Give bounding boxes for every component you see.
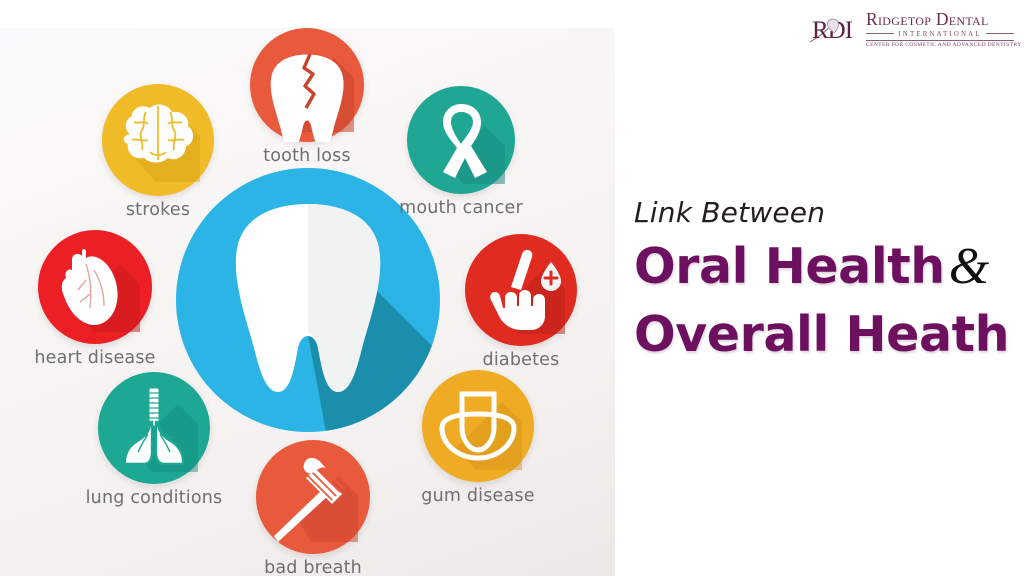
logo-international-row: INTERNATIONAL [866, 30, 1014, 38]
bad-breath-circle [256, 440, 370, 554]
tooth-loss-label: tooth loss [263, 146, 351, 166]
title-ampersand: & [945, 238, 989, 295]
awareness-ribbon-icon [407, 86, 515, 194]
title-block: Link Between Oral Health& Overall Heath [634, 196, 1024, 366]
finger-prick-icon [465, 234, 577, 346]
mouth-cancer-label: mouth cancer [399, 198, 523, 218]
logo-tagline: CENTER FOR COSMETIC AND ADVANCED DENTIST… [866, 42, 1014, 48]
heart-disease-label: heart disease [34, 348, 155, 368]
toothbrush-icon [256, 440, 370, 554]
brain-icon [102, 84, 214, 196]
heart-disease-circle [38, 230, 152, 344]
diabetes-label: diabetes [483, 350, 560, 370]
title-line-1-text: Oral Health [634, 238, 945, 295]
heart-organ-icon [38, 230, 152, 344]
logo-rule-right [986, 33, 1014, 34]
mouth-cancer-circle [407, 86, 515, 194]
oral-health-infographic: tooth loss mouth cancer [0, 28, 615, 576]
logo-international-text: INTERNATIONAL [898, 30, 981, 38]
cracked-tooth-icon [250, 28, 364, 142]
tooth-icon [228, 200, 388, 396]
diabetes-circle [465, 234, 577, 346]
lungs-icon [98, 372, 210, 484]
lung-conditions-label: lung conditions [86, 488, 223, 508]
brand-logo[interactable]: RDI Ridgetop Dental INTERNATIONAL CENTER… [806, 6, 1014, 52]
slide-root: RDI Ridgetop Dental INTERNATIONAL CENTER… [0, 0, 1024, 576]
lung-conditions-circle [98, 372, 210, 484]
strokes-circle [102, 84, 214, 196]
title-line-1: Oral Health& [634, 236, 1024, 298]
title-line-2: Overall Heath [634, 304, 1024, 366]
logo-rule-left [866, 33, 894, 34]
logo-company-name: Ridgetop Dental [866, 10, 1014, 29]
bad-breath-label: bad breath [264, 558, 362, 576]
gum-disease-label: gum disease [421, 486, 534, 506]
title-eyebrow: Link Between [634, 196, 1024, 230]
gum-tooth-icon [422, 370, 534, 482]
logo-divider [866, 40, 1014, 41]
gum-disease-circle [422, 370, 534, 482]
strokes-label: strokes [126, 200, 190, 220]
rdi-monogram-icon: RDI [806, 8, 862, 50]
tooth-loss-circle [250, 28, 364, 142]
